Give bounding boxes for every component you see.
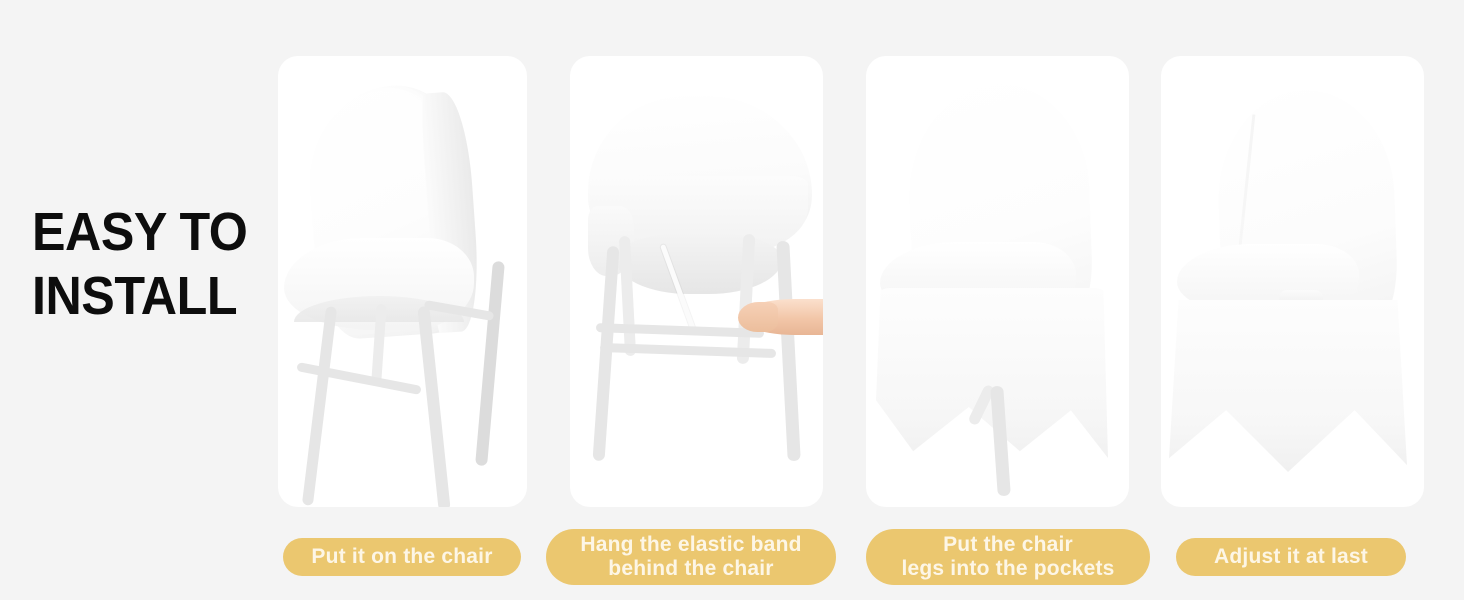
chair-leg-front-left [302, 306, 337, 506]
step-caption-1-line-1: Put it on the chair [311, 545, 492, 569]
step-card-4 [1161, 56, 1424, 507]
infographic-root: EASY TO INSTALL [0, 0, 1464, 600]
step-caption-3-line-1: Put the chair [901, 533, 1114, 557]
headline-line-1: EASY TO [32, 202, 247, 262]
step-caption-3: Put the chair legs into the pockets [866, 529, 1150, 585]
hand-fingers [738, 302, 778, 332]
chair-seat-underside [616, 232, 782, 294]
chair-leg-front-right [776, 241, 800, 461]
step-caption-2-line-2: behind the chair [580, 557, 801, 581]
step-caption-4-line-1: Adjust it at last [1214, 545, 1368, 569]
step-caption-1: Put it on the chair [283, 538, 521, 576]
chair-leg-front-left [593, 246, 620, 461]
step-caption-3-line-2: legs into the pockets [901, 557, 1114, 581]
cover-skirt [876, 288, 1108, 458]
cover-skirt [1169, 300, 1407, 472]
page-title: EASY TO INSTALL [32, 200, 255, 328]
chair-leg-front-right [417, 306, 450, 507]
step-caption-4: Adjust it at last [1176, 538, 1406, 576]
step-caption-2-line-1: Hang the elastic band [580, 533, 801, 557]
step-card-2 [570, 56, 823, 507]
chair-brace-lower [600, 343, 776, 358]
chair-illustration-step-1 [278, 56, 527, 507]
step-caption-2: Hang the elastic band behind the chair [546, 529, 836, 585]
step-card-3 [866, 56, 1129, 507]
headline-line-2: INSTALL [32, 264, 255, 328]
chair-illustration-step-4 [1161, 56, 1424, 507]
chair-illustration-step-3 [866, 56, 1129, 507]
chair-leg-back-right [475, 261, 505, 466]
chair-illustration-step-2 [570, 56, 823, 507]
step-card-1 [278, 56, 527, 507]
